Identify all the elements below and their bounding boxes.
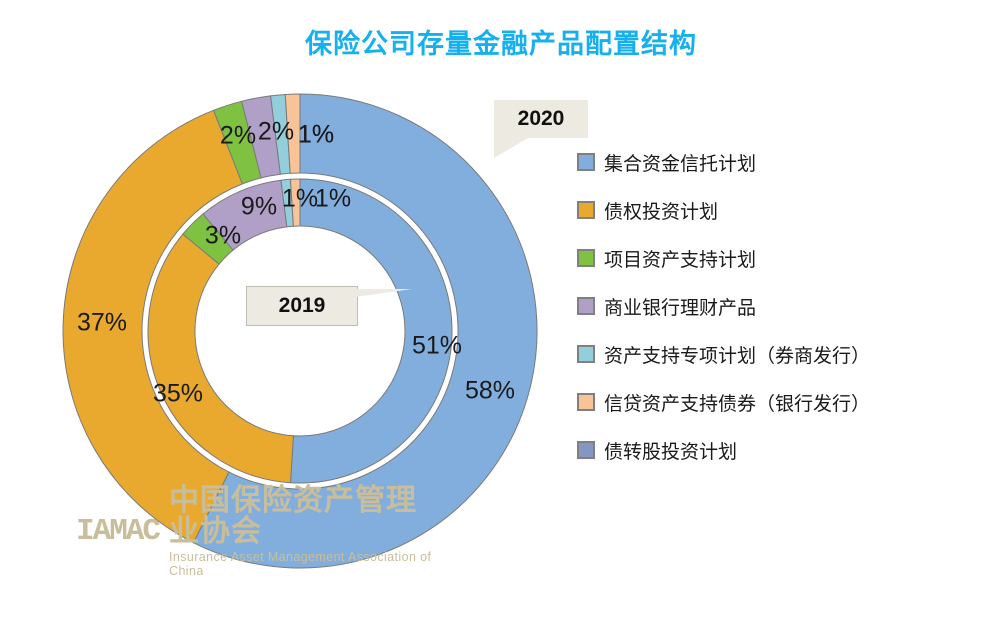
legend-item[interactable]: 项目资产支持计划	[577, 234, 997, 282]
pie-slice-label: 51%	[412, 332, 462, 360]
legend: 集合资金信托计划债权投资计划项目资产支持计划商业银行理财产品资产支持专项计划（券…	[577, 138, 997, 474]
pie-slice-label: 35%	[153, 380, 203, 408]
legend-item-label: 项目资产支持计划	[604, 245, 756, 272]
pie-slice-label: 9%	[241, 193, 277, 221]
legend-item-label: 商业银行理财产品	[604, 293, 756, 320]
legend-item-label: 债转股投资计划	[604, 437, 737, 464]
pie-slice-label: 1%	[282, 185, 318, 213]
callout-2020: 2020	[494, 100, 588, 138]
callout-2020-tail	[494, 138, 528, 158]
legend-item[interactable]: 债转股投资计划	[577, 426, 997, 474]
legend-item[interactable]: 集合资金信托计划	[577, 138, 997, 186]
pie-slice-label: 1%	[315, 185, 351, 213]
pie-slice-label: 58%	[465, 377, 515, 405]
callout-2019: 2019	[246, 286, 358, 326]
legend-item[interactable]: 资产支持专项计划（券商发行）	[577, 330, 997, 378]
outer-ring-2020	[63, 94, 537, 568]
pie-slice-label: 37%	[77, 309, 127, 337]
legend-swatch-icon	[577, 153, 595, 171]
legend-item-label: 信贷资产支持债券（银行发行）	[604, 389, 870, 416]
legend-swatch-icon	[577, 201, 595, 219]
legend-item[interactable]: 信贷资产支持债券（银行发行）	[577, 378, 997, 426]
pie-slice-label: 1%	[298, 121, 334, 149]
legend-item[interactable]: 债权投资计划	[577, 186, 997, 234]
pie-slice-label: 3%	[205, 222, 241, 250]
legend-swatch-icon	[577, 393, 595, 411]
legend-swatch-icon	[577, 297, 595, 315]
inner-ring-2019	[148, 179, 452, 483]
legend-swatch-icon	[577, 345, 595, 363]
legend-swatch-icon	[577, 441, 595, 459]
callout-2019-label: 2019	[279, 294, 326, 318]
callout-2019-tail	[356, 289, 412, 297]
legend-swatch-icon	[577, 249, 595, 267]
legend-item-label: 资产支持专项计划（券商发行）	[604, 341, 870, 368]
pie-slice-label: 2%	[258, 118, 294, 146]
legend-item-label: 集合资金信托计划	[604, 149, 756, 176]
callout-2020-label: 2020	[518, 107, 565, 131]
legend-item[interactable]: 商业银行理财产品	[577, 282, 997, 330]
nested-donut-chart: 58%37%2%2%1%1% 51%35%3%9%1%1% 2020 2019 …	[0, 0, 600, 618]
legend-item-label: 债权投资计划	[604, 197, 718, 224]
pie-slice-label: 2%	[220, 122, 256, 150]
